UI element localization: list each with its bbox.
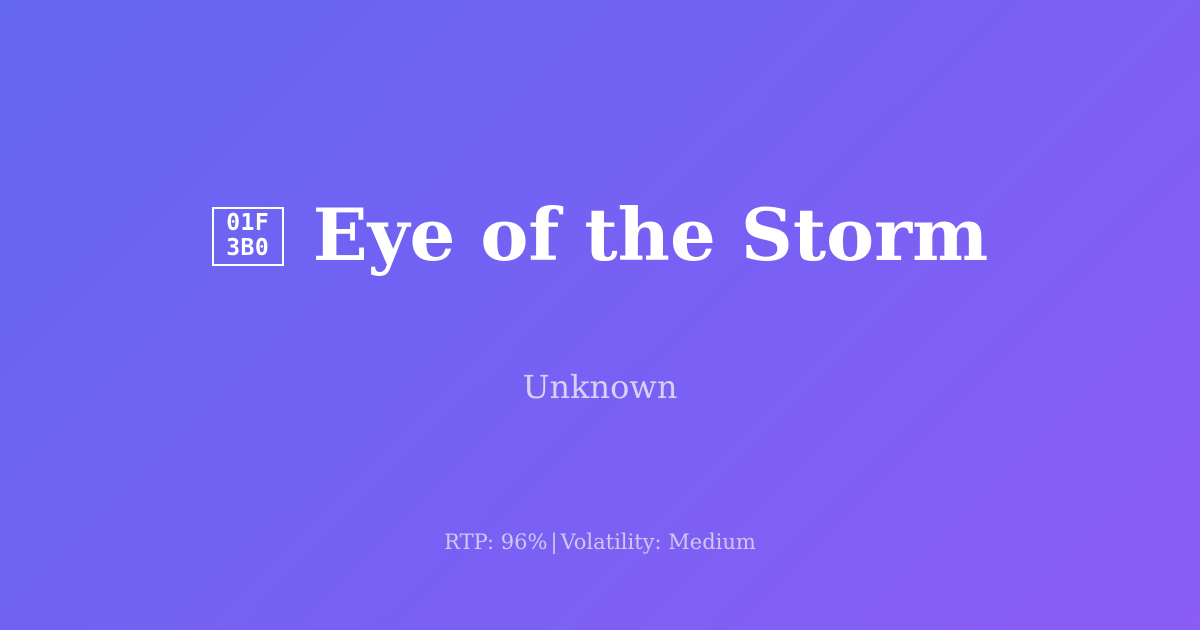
volatility-value: Volatility: Medium <box>561 530 756 554</box>
meta-separator: | <box>547 530 560 554</box>
slot-machine-icon: 01F 3B0 <box>212 207 284 266</box>
page-title: 01F 3B0 Eye of the Storm <box>212 199 989 271</box>
game-provider-subtitle: Unknown <box>0 366 1200 408</box>
game-title-text: Eye of the Storm <box>313 199 989 271</box>
rtp-value: RTP: 96% <box>444 530 547 554</box>
game-info-card: 01F 3B0 Eye of the Storm Unknown RTP: 96… <box>0 0 1200 630</box>
slot-machine-icon-codepoint-bottom: 3B0 <box>226 236 269 261</box>
slot-machine-icon-codepoint-top: 01F <box>226 211 269 236</box>
game-stats-line: RTP: 96%|Volatility: Medium <box>0 528 1200 556</box>
